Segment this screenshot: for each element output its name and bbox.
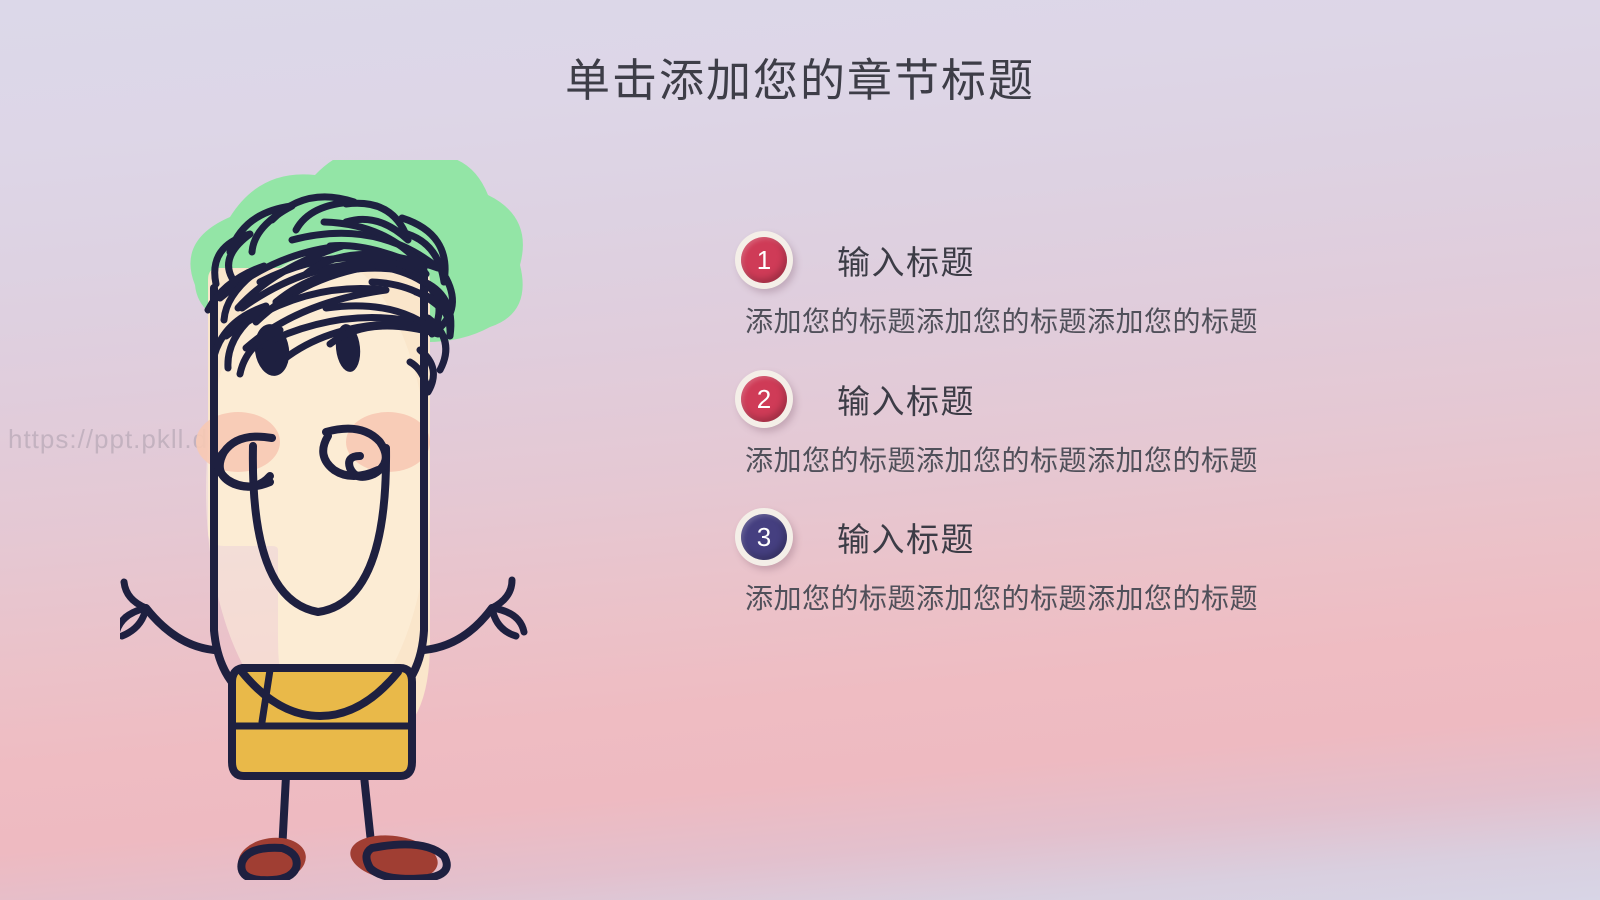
bullet-title: 输入标题 [837,375,975,423]
list-item[interactable]: 1 输入标题 添加您的标题添加您的标题添加您的标题 [735,228,1355,343]
bullet-header: 2 输入标题 [735,367,1355,431]
bullet-list: 1 输入标题 添加您的标题添加您的标题添加您的标题 2 输入标题 添加您的标题添… [735,228,1355,620]
doodle-character-icon [120,160,580,880]
list-item[interactable]: 3 输入标题 添加您的标题添加您的标题添加您的标题 [735,505,1355,620]
bullet-body: 添加您的标题添加您的标题添加您的标题 [745,441,1345,482]
bullet-body: 添加您的标题添加您的标题添加您的标题 [745,579,1345,620]
page-title: 单击添加您的章节标题 [0,44,1600,109]
doodle-character-illustration [120,160,580,880]
bullet-title: 输入标题 [837,236,975,284]
bullet-header: 3 输入标题 [735,505,1355,569]
badge-number-circle: 2 [741,376,787,422]
list-item[interactable]: 2 输入标题 添加您的标题添加您的标题添加您的标题 [735,367,1355,482]
badge-1[interactable]: 1 [735,231,793,289]
bullet-body: 添加您的标题添加您的标题添加您的标题 [745,302,1345,343]
badge-number-circle: 1 [741,237,787,283]
bullet-title: 输入标题 [837,513,975,561]
badge-number-circle: 3 [741,514,787,560]
badge-2[interactable]: 2 [735,370,793,428]
bullet-header: 1 输入标题 [735,228,1355,292]
badge-3[interactable]: 3 [735,508,793,566]
